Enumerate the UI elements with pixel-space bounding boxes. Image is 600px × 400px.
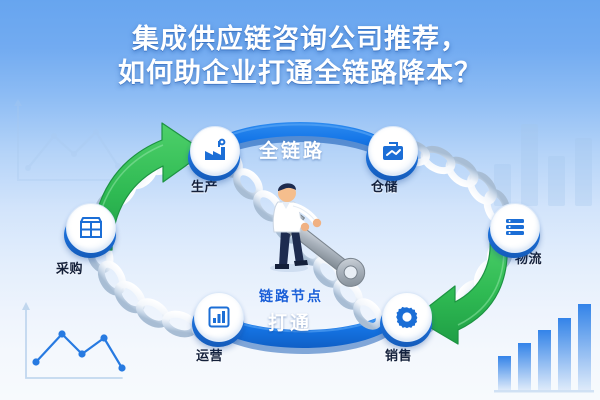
shopping-store-icon (66, 203, 116, 253)
server-stack-icon (490, 203, 540, 253)
title-line-1: 集成供应链咨询公司推荐， (0, 22, 600, 56)
poster-canvas: 集成供应链咨询公司推荐， 如何助企业打通全链路降本？ (0, 0, 600, 400)
gear-icon (382, 292, 432, 342)
title-line-2: 如何助企业打通全链路降本？ (0, 56, 600, 90)
node-caigou[interactable] (64, 203, 116, 255)
node-xiaoshou[interactable] (380, 292, 432, 344)
banner-top-label: 全链路 (259, 136, 325, 163)
node-wuliu[interactable] (488, 203, 540, 255)
warehouse-box-icon (368, 126, 418, 176)
chain-nodes-caption: 链路节点 (259, 286, 323, 306)
node-yunying[interactable] (192, 292, 244, 344)
node-shengchan[interactable] (188, 126, 240, 178)
factory-icon (190, 126, 240, 176)
bar-chart-icon (194, 292, 244, 342)
page-title: 集成供应链咨询公司推荐， 如何助企业打通全链路降本？ (0, 22, 600, 90)
node-cangchu[interactable] (366, 126, 418, 178)
banner-bottom-label: 打通 (268, 308, 312, 335)
